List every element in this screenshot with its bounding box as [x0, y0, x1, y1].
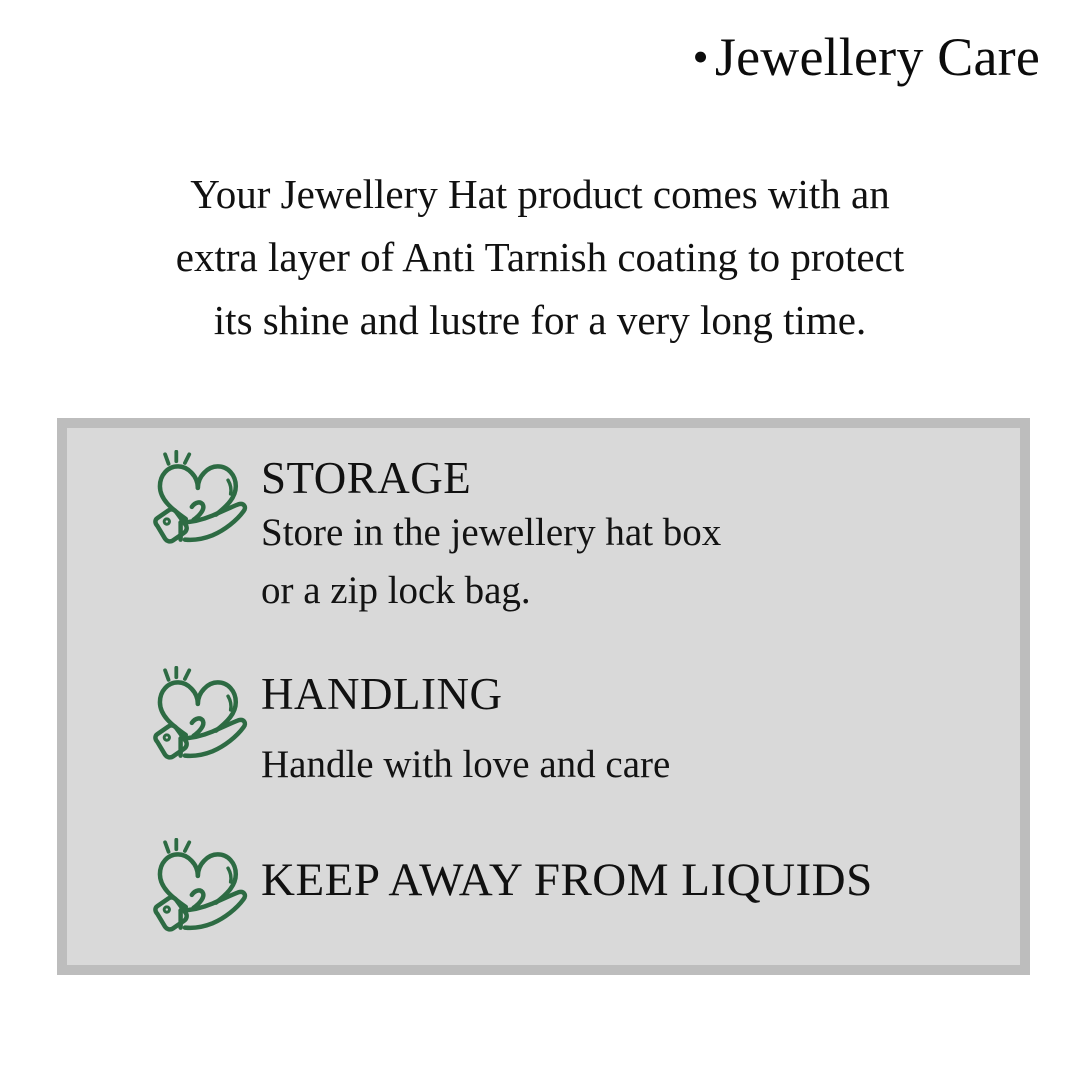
care-row-storage: STORAGE Store in the jewellery hat box o… — [145, 450, 721, 620]
bullet-icon: • — [693, 31, 715, 82]
care-desc-storage-line-1: Store in the jewellery hat box — [261, 504, 721, 562]
care-row-liquids: KEEP AWAY FROM LIQUIDS — [145, 836, 873, 938]
intro-line-3: its shine and lustre for a very long tim… — [70, 289, 1010, 352]
intro-paragraph: Your Jewellery Hat product comes with an… — [70, 163, 1010, 352]
page-title-text: Jewellery Care — [715, 27, 1040, 87]
care-title-handling: HANDLING — [261, 668, 670, 720]
hand-holding-heart-icon — [145, 666, 249, 766]
care-row-handling: HANDLING Handle with love and care — [145, 666, 670, 794]
intro-line-1: Your Jewellery Hat product comes with an — [70, 163, 1010, 226]
hand-holding-heart-icon — [145, 838, 249, 938]
care-title-storage: STORAGE — [261, 452, 721, 504]
page-title: •Jewellery Care — [693, 28, 1040, 87]
care-body-handling: HANDLING Handle with love and care — [261, 666, 670, 794]
care-desc-storage: Store in the jewellery hat box or a zip … — [261, 504, 721, 620]
care-rows: STORAGE Store in the jewellery hat box o… — [67, 428, 1020, 965]
care-desc-handling: Handle with love and care — [261, 720, 670, 794]
care-desc-handling-line-1: Handle with love and care — [261, 736, 670, 794]
care-body-liquids: KEEP AWAY FROM LIQUIDS — [261, 836, 873, 906]
care-desc-storage-line-2: or a zip lock bag. — [261, 562, 721, 620]
intro-line-2: extra layer of Anti Tarnish coating to p… — [70, 226, 1010, 289]
hand-holding-heart-icon — [145, 450, 249, 550]
care-body-storage: STORAGE Store in the jewellery hat box o… — [261, 450, 721, 620]
care-instructions-panel: STORAGE Store in the jewellery hat box o… — [57, 418, 1030, 975]
care-title-liquids: KEEP AWAY FROM LIQUIDS — [261, 838, 873, 906]
